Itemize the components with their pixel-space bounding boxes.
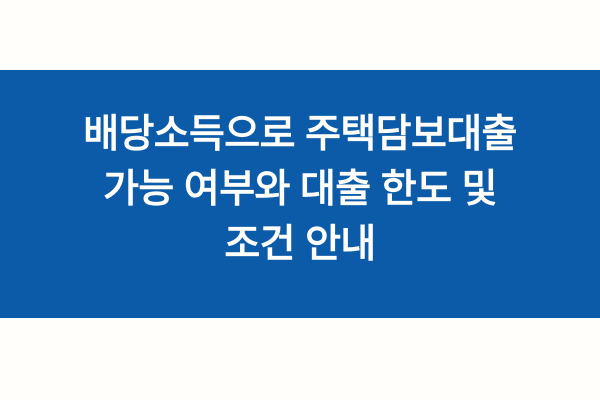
title-banner-band: 배당소득으로 주택담보대출 가능 여부와 대출 한도 및 조건 안내 xyxy=(0,70,600,318)
banner-title-line-3: 조건 안내 xyxy=(14,217,586,272)
banner-title-line-1: 배당소득으로 주택담보대출 xyxy=(14,107,586,162)
banner-title-line-2: 가능 여부와 대출 한도 및 xyxy=(14,162,586,217)
banner-title: 배당소득으로 주택담보대출 가능 여부와 대출 한도 및 조건 안내 xyxy=(0,107,600,272)
banner-canvas: 배당소득으로 주택담보대출 가능 여부와 대출 한도 및 조건 안내 xyxy=(0,0,600,400)
